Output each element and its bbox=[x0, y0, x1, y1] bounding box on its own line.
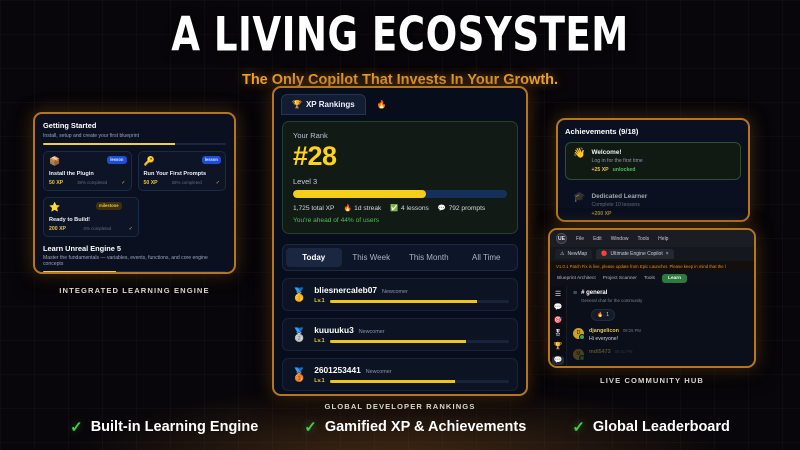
feature-global-leaderboard: ✓ Global Leaderboard bbox=[572, 418, 730, 436]
wave-icon: 👋 bbox=[573, 149, 585, 159]
achievements-panel: Achievements (9/18) 👋 Welcome! Log in fo… bbox=[556, 118, 750, 222]
tab-all-time[interactable]: All Time bbox=[459, 248, 515, 267]
warning-icon: ⚠ bbox=[560, 251, 564, 257]
lesson-completion: 38% completed bbox=[77, 180, 107, 185]
trophy-icon[interactable]: 🏆 bbox=[554, 343, 563, 350]
achievement-name: Dedicated Learner bbox=[591, 193, 647, 200]
avatar: D bbox=[573, 328, 584, 339]
tab-xp-rankings[interactable]: 🏆 XP Rankings bbox=[281, 94, 366, 115]
achievement-item[interactable]: 🎓 Dedicated Learner Complete 10 lessons … bbox=[565, 186, 741, 222]
menu-help[interactable]: Help bbox=[658, 236, 668, 242]
section-title: Getting Started bbox=[43, 121, 226, 130]
close-icon[interactable]: × bbox=[666, 251, 669, 257]
milestone-card[interactable]: milestone ⭐ Ready to Build! 200 XP 0% co… bbox=[43, 197, 139, 237]
lesson-xp: 200 XP bbox=[49, 226, 66, 232]
page-title: A LIVING ECOSYSTEM bbox=[28, 8, 772, 62]
feature-learning-engine: ✓ Built-in Learning Engine bbox=[70, 418, 258, 436]
achievement-name: Welcome! bbox=[591, 149, 642, 156]
chat-icon[interactable]: 💬 bbox=[554, 304, 563, 311]
section-progress-bar bbox=[43, 143, 226, 145]
check-box-icon: ✅ bbox=[390, 204, 398, 212]
leaderboard-progress-bar bbox=[330, 300, 509, 303]
feature-gamified-xp: ✓ Gamified XP & Achievements bbox=[304, 418, 526, 436]
check-icon: ✓ bbox=[304, 418, 317, 436]
message-author: mdl5473 bbox=[589, 349, 611, 355]
hash-icon: ≡ bbox=[573, 290, 577, 297]
lesson-card-row: lesson 📦 Install the Plugin 50 XP 38% co… bbox=[43, 151, 226, 191]
level-progress-bar bbox=[293, 190, 507, 198]
channel-desc: General chat for the community bbox=[581, 298, 642, 303]
achievement-status: unlocked bbox=[613, 167, 636, 173]
silver-medal-icon: 🥈 bbox=[291, 328, 307, 341]
rank-value: #28 bbox=[293, 142, 507, 170]
patch-warning-banner: V1.0.1 Patch Fix is live, please update … bbox=[550, 261, 754, 271]
menu-tools[interactable]: Tools bbox=[637, 236, 649, 242]
feature-label: Gamified XP & Achievements bbox=[325, 419, 526, 435]
message-time: 09:25 PM bbox=[623, 328, 641, 333]
achievements-title: Achievements (9/18) bbox=[565, 127, 741, 136]
gold-medal-icon: 🥇 bbox=[291, 288, 307, 301]
bronze-medal-icon: 🥉 bbox=[291, 368, 307, 381]
leaderboard-level: Lv.1 bbox=[314, 338, 324, 344]
menu-file[interactable]: File bbox=[576, 236, 584, 242]
feature-bar: ✓ Built-in Learning Engine ✓ Gamified XP… bbox=[0, 418, 800, 436]
chat-icon: 💬 bbox=[438, 204, 446, 212]
achievement-xp: +25 XP bbox=[591, 167, 608, 173]
hub-channel-pane: ≡ # general General chat for the communi… bbox=[567, 286, 754, 368]
hub-menubar: UE File Edit Window Tools Help bbox=[550, 230, 754, 247]
reaction-chip[interactable]: 🔥 1 bbox=[591, 309, 615, 321]
your-rank-label: Your Rank bbox=[293, 131, 507, 140]
fire-icon: 🔥 bbox=[343, 204, 351, 212]
milestone-badge: milestone bbox=[96, 202, 122, 210]
tab-this-week[interactable]: This Week bbox=[344, 248, 400, 267]
timeframe-tabs: Today This Week This Month All Time bbox=[282, 244, 518, 271]
lesson-card[interactable]: lesson 🔑 Run Your First Prompts 50 XP 26… bbox=[138, 151, 227, 191]
header: A LIVING ECOSYSTEM The Only Copilot That… bbox=[0, 12, 800, 88]
leaderboard-username: kuuuuku3 bbox=[314, 325, 354, 335]
menu-window[interactable]: Window bbox=[611, 236, 629, 242]
leaderboard-progress-bar bbox=[330, 380, 509, 383]
leaderboard-row[interactable]: 🥉 2601253441 Newcomer Lv.1 bbox=[282, 358, 518, 391]
tab-newmap[interactable]: ⚠ NewMap bbox=[555, 249, 592, 259]
hub-subtabs: Blueprint Architect Project Scanner Tool… bbox=[550, 271, 754, 286]
stat-prompts: 💬792 prompts bbox=[438, 204, 485, 212]
avatar: M bbox=[573, 349, 584, 360]
section-title: Learn Unreal Engine 5 bbox=[43, 244, 226, 253]
caption-center: GLOBAL DEVELOPER RANKINGS bbox=[272, 402, 528, 411]
leaderboard-level: Lv.1 bbox=[314, 378, 324, 384]
section-learn-ue5: Learn Unreal Engine 5 Master the fundame… bbox=[43, 244, 226, 275]
lesson-name: Run Your First Prompts bbox=[144, 171, 221, 177]
leaderboard-username: 2601253441 bbox=[314, 365, 361, 375]
achievement-xp: +200 XP bbox=[591, 211, 611, 217]
tab-streaks[interactable]: 🔥 bbox=[370, 94, 398, 115]
menu-icon[interactable]: ☰ bbox=[555, 291, 561, 298]
fire-icon: 🔥 bbox=[377, 100, 387, 109]
rankings-tabs: 🏆 XP Rankings 🔥 bbox=[274, 88, 526, 115]
rank-stats: 1,725 total XP 🔥1d streak ✅4 lessons 💬79… bbox=[293, 204, 507, 212]
record-icon: 🔴 bbox=[601, 251, 607, 257]
community-hub-window: UE File Edit Window Tools Help ⚠ NewMap … bbox=[548, 228, 756, 368]
milestone-card-row: milestone ⭐ Ready to Build! 200 XP 0% co… bbox=[43, 197, 226, 237]
your-rank-card: Your Rank #28 Level 3 1,725 total XP 🔥1d… bbox=[282, 121, 518, 234]
reaction-count: 1 bbox=[606, 312, 609, 318]
tab-this-month[interactable]: This Month bbox=[401, 248, 457, 267]
graduation-cap-icon: 🎓 bbox=[573, 193, 585, 203]
check-icon: ✓ bbox=[121, 180, 125, 186]
fire-icon: 🔥 bbox=[597, 312, 603, 318]
lesson-card[interactable]: lesson 📦 Install the Plugin 50 XP 38% co… bbox=[43, 151, 132, 191]
leaderboard-username: bliesnercaleb07 bbox=[314, 285, 377, 295]
achievement-desc: Log in for the first time bbox=[591, 158, 642, 164]
ahead-text: You're ahead of 44% of users bbox=[293, 217, 507, 224]
channel-name: # general bbox=[581, 290, 642, 296]
global-rankings-panel: 🏆 XP Rankings 🔥 Your Rank #28 Level 3 1,… bbox=[272, 86, 528, 396]
lesson-xp: 50 XP bbox=[49, 180, 63, 186]
caption-right: LIVE COMMUNITY HUB bbox=[548, 376, 756, 385]
lesson-xp: 50 XP bbox=[144, 180, 158, 186]
stat-text: 1,725 total XP bbox=[293, 205, 334, 212]
stat-streak: 🔥1d streak bbox=[343, 204, 381, 212]
check-icon: ✓ bbox=[572, 418, 585, 436]
feature-label: Global Leaderboard bbox=[593, 419, 730, 435]
tab-label: NewMap bbox=[567, 251, 587, 257]
leaderboard-row[interactable]: 🥈 kuuuuku3 Newcomer Lv.1 bbox=[282, 318, 518, 351]
hub-icon-rail: ☰ 💬 🎯 🎖 🏆 💬 bbox=[550, 286, 567, 368]
subtab-blueprint-architect[interactable]: Blueprint Architect bbox=[557, 276, 596, 281]
message-time: 09:41 PM bbox=[615, 349, 633, 354]
caption-left: INTEGRATED LEARNING ENGINE bbox=[33, 286, 236, 295]
tab-label: XP Rankings bbox=[306, 100, 355, 109]
stat-text: 4 lessons bbox=[401, 205, 429, 212]
stat-text: 1d streak bbox=[354, 205, 381, 212]
stat-text: 792 prompts bbox=[449, 205, 486, 212]
target-icon[interactable]: 🎯 bbox=[554, 317, 563, 324]
chat-message: M mdl5473 09:41 PM bbox=[573, 349, 748, 360]
achievement-desc: Complete 10 lessons bbox=[591, 202, 647, 208]
leaderboard-row[interactable]: 🥇 bliesnercaleb07 Newcomer Lv.1 bbox=[282, 278, 518, 311]
chat-message: D djangelicon 09:25 PM Hi everyone! bbox=[573, 328, 748, 342]
menu-edit[interactable]: Edit bbox=[593, 236, 602, 242]
trophy-icon: 🏆 bbox=[292, 100, 302, 109]
messages-icon[interactable]: 💬 bbox=[552, 356, 565, 365]
check-icon: ✓ bbox=[216, 180, 220, 186]
subtab-tools[interactable]: Tools bbox=[644, 276, 655, 281]
check-icon: ✓ bbox=[70, 418, 83, 436]
medal-icon[interactable]: 🎖 bbox=[554, 330, 563, 337]
feature-label: Built-in Learning Engine bbox=[91, 419, 259, 435]
learning-engine-panel: Getting Started Install, setup and creat… bbox=[33, 112, 236, 274]
lesson-name: Install the Plugin bbox=[49, 171, 126, 177]
section-subtitle: Master the fundamentals — variables, eve… bbox=[43, 255, 226, 267]
leaderboard-tag: Newcomer bbox=[382, 289, 408, 295]
subtab-project-scanner[interactable]: Project Scanner bbox=[603, 276, 637, 281]
message-author: djangelicon bbox=[589, 328, 619, 334]
lesson-completion: 0% completed bbox=[84, 226, 112, 231]
achievement-item[interactable]: 👋 Welcome! Log in for the first time +25… bbox=[565, 142, 741, 180]
section-getting-started: Getting Started Install, setup and creat… bbox=[43, 121, 226, 237]
message-text: Hi everyone! bbox=[589, 336, 641, 342]
check-icon: ✓ bbox=[129, 226, 133, 232]
leaderboard-tag: Newcomer bbox=[366, 369, 392, 375]
lesson-badge: lesson bbox=[107, 156, 126, 164]
leaderboard-progress-bar bbox=[330, 340, 509, 343]
unreal-engine-logo-icon: UE bbox=[556, 233, 567, 244]
tab-ultimate-engine-copilot[interactable]: 🔴 Ultimate Engine Copilot × bbox=[596, 249, 673, 259]
lesson-completion: 26% completed bbox=[172, 180, 202, 185]
section-subtitle: Install, setup and create your first blu… bbox=[43, 133, 226, 139]
lesson-name: Ready to Build! bbox=[49, 217, 133, 223]
hub-tabbar: ⚠ NewMap 🔴 Ultimate Engine Copilot × bbox=[550, 247, 754, 261]
leaderboard-tag: Newcomer bbox=[359, 329, 385, 335]
lesson-badge: lesson bbox=[202, 156, 221, 164]
subtab-learn[interactable]: Learn bbox=[662, 274, 687, 283]
stat-total-xp: 1,725 total XP bbox=[293, 205, 334, 212]
tab-label: Ultimate Engine Copilot bbox=[610, 251, 662, 257]
stat-lessons: ✅4 lessons bbox=[390, 204, 429, 212]
leaderboard-level: Lv.1 bbox=[314, 298, 324, 304]
section-progress-bar bbox=[43, 271, 226, 273]
level-label: Level 3 bbox=[293, 177, 507, 186]
tab-today[interactable]: Today bbox=[286, 248, 342, 267]
